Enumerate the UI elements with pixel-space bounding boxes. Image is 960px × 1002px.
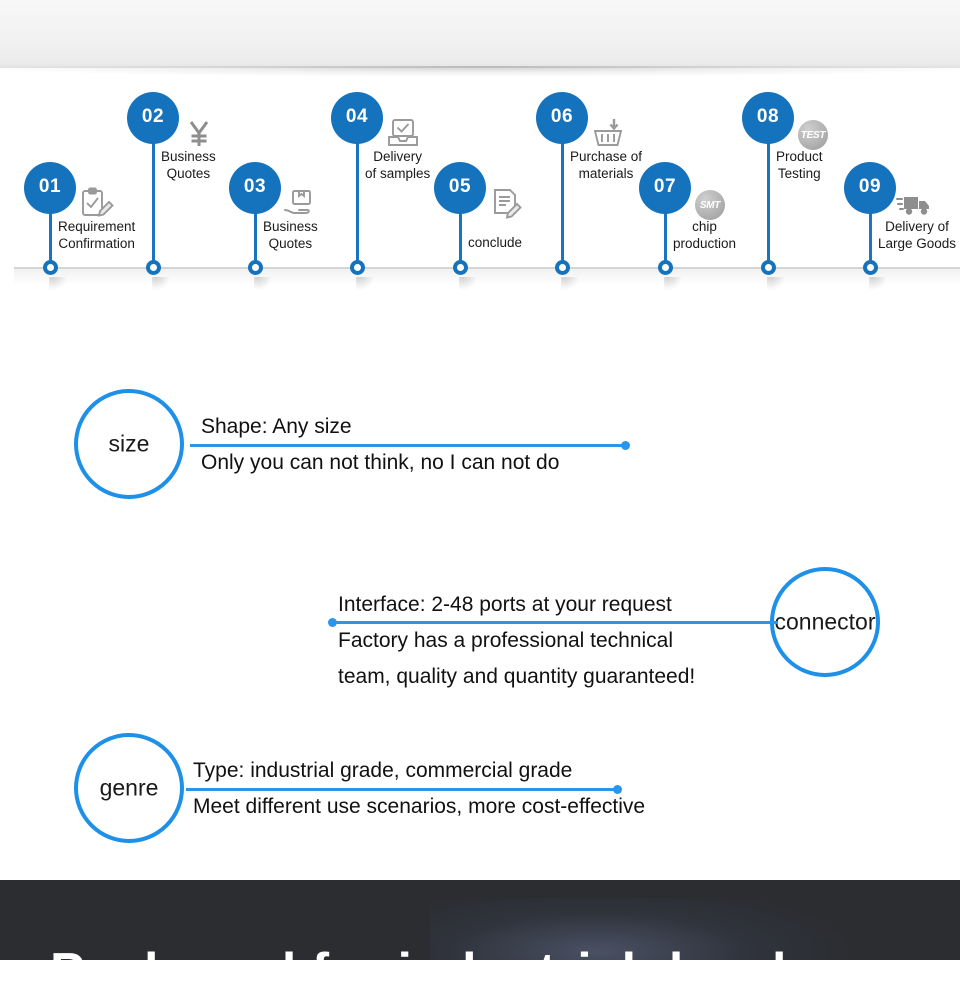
timeline-step-label-line2: Large Goods: [878, 235, 956, 252]
feature-text-line2: Meet different use scenarios, more cost-…: [193, 789, 645, 825]
timeline-step-number-pin[interactable]: 08: [742, 92, 794, 144]
timeline-step-dot[interactable]: [658, 260, 673, 275]
timeline-step-dot[interactable]: [248, 260, 263, 275]
timeline-step-number-pin[interactable]: 04: [331, 92, 383, 144]
basket-download-icon: [588, 116, 628, 152]
timeline-step-label-line1: Requirement: [58, 218, 135, 235]
yen-currency-icon: [179, 116, 219, 152]
timeline-step-number-pin[interactable]: 05: [434, 162, 486, 214]
feature-circle-label: connector: [774, 609, 875, 636]
feature-text-line1: Interface: 2-48 ports at your request: [338, 587, 695, 623]
timeline-step-label: Purchase ofmaterials: [570, 148, 642, 182]
timeline-step-stem: [664, 210, 667, 266]
timeline-step-label-line2: Quotes: [263, 235, 318, 252]
feature-circle-connector[interactable]: connector: [770, 567, 880, 677]
timeline-step-label-line1: conclude: [468, 234, 522, 251]
feature-connector-dot: [621, 441, 630, 450]
top-banner-strip: [0, 0, 960, 68]
timeline-step-label-line2: of samples: [365, 165, 430, 182]
timeline-step-dot[interactable]: [453, 260, 468, 275]
timeline-step-stem: [869, 210, 872, 266]
timeline-step-label-line1: Product: [776, 148, 823, 165]
timeline-step-dot[interactable]: [555, 260, 570, 275]
feature-text-line1: Shape: Any size: [201, 409, 559, 445]
feature-text-line2: Only you can not think, no I can not do: [201, 445, 559, 481]
timeline-step-stem: [254, 210, 257, 266]
timeline-step-label: RequirementConfirmation: [58, 218, 135, 252]
timeline-step-dot[interactable]: [43, 260, 58, 275]
timeline-step-label-line2: production: [673, 235, 736, 252]
test-badge-icon: TEST: [798, 120, 828, 150]
timeline-step-label: ProductTesting: [776, 148, 823, 182]
feature-text-connector: Interface: 2-48 ports at your requestFac…: [338, 587, 695, 695]
smt-badge-icon: SMT: [695, 190, 725, 220]
timeline-step-label: chipproduction: [673, 218, 736, 252]
feature-text-line3: team, quality and quantity guaranteed!: [338, 659, 695, 695]
top-banner-shadow: [0, 66, 960, 80]
timeline-step-label-line2: Confirmation: [58, 235, 135, 252]
feature-text-line2: Factory has a professional technical: [338, 623, 695, 659]
timeline-step-stem: [152, 140, 155, 266]
timeline-step-label-line2: Quotes: [161, 165, 216, 182]
timeline-step-label-line1: Business: [161, 148, 216, 165]
feature-circle-label: genre: [100, 775, 159, 802]
feature-text-size: Shape: Any sizeOnly you can not think, n…: [201, 409, 559, 481]
timeline-step-stem: [356, 140, 359, 266]
feature-connector-dot: [328, 618, 337, 627]
timeline-step-stem: [561, 140, 564, 266]
timeline-step-number-pin[interactable]: 09: [844, 162, 896, 214]
timeline-step-label-line1: Purchase of: [570, 148, 642, 165]
timeline-step-number-pin[interactable]: 07: [639, 162, 691, 214]
timeline-step-number-pin[interactable]: 01: [24, 162, 76, 214]
timeline-step-label: Delivery ofLarge Goods: [878, 218, 956, 252]
timeline-step-stem: [459, 210, 462, 266]
hand-holding-box-icon: [281, 186, 321, 222]
timeline-step-stem: [767, 140, 770, 266]
timeline-step-label: conclude: [468, 234, 522, 251]
timeline-step-label-line1: Delivery of: [878, 218, 956, 235]
timeline-step-stem: [49, 210, 52, 266]
timeline-step-label: Deliveryof samples: [365, 148, 430, 182]
feature-circle-label: size: [109, 431, 150, 458]
timeline-step-dot[interactable]: [146, 260, 161, 275]
bottom-headline: Packaged for industrial development: [50, 942, 930, 1002]
timeline-step-label: BusinessQuotes: [161, 148, 216, 182]
timeline-step-label: BusinessQuotes: [263, 218, 318, 252]
timeline-step-number-pin[interactable]: 03: [229, 162, 281, 214]
timeline-step-dot[interactable]: [761, 260, 776, 275]
timeline-step-dot[interactable]: [863, 260, 878, 275]
timeline-step-number-pin[interactable]: 06: [536, 92, 588, 144]
inbox-check-icon: [383, 116, 423, 152]
timeline-step-label-line1: chip: [673, 218, 736, 235]
feature-text-line1: Type: industrial grade, commercial grade: [193, 753, 645, 789]
delivery-truck-icon: [896, 186, 936, 222]
feature-circle-size[interactable]: size: [74, 389, 184, 499]
feature-text-genre: Type: industrial grade, commercial grade…: [193, 753, 645, 825]
timeline-step-label-line2: Testing: [776, 165, 823, 182]
timeline-step-number-pin[interactable]: 02: [127, 92, 179, 144]
contract-sign-icon: [486, 186, 526, 222]
timeline-step-label-line1: Business: [263, 218, 318, 235]
process-timeline: 01RequirementConfirmation02BusinessQuote…: [0, 80, 960, 300]
timeline-step-label-line1: Delivery: [365, 148, 430, 165]
feature-circle-genre[interactable]: genre: [74, 733, 184, 843]
timeline-step-dot[interactable]: [350, 260, 365, 275]
timeline-step-label-line2: materials: [570, 165, 642, 182]
clipboard-check-pen-icon: [76, 186, 116, 222]
